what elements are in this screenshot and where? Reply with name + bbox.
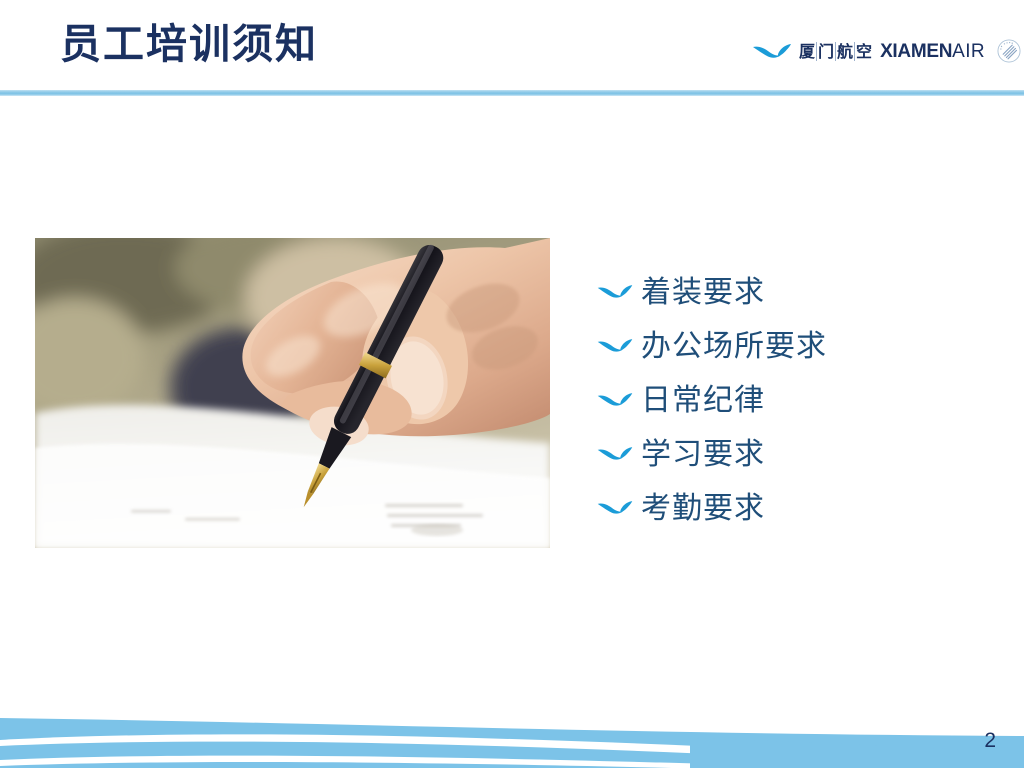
list-item-label: 考勤要求 <box>641 492 765 525</box>
logo-en-light: AIR <box>952 41 985 62</box>
xiamenair-logo: 厦 门 航 空 XIAMENAIR <box>752 36 1022 66</box>
egret-bullet-icon <box>595 498 635 518</box>
logo-chinese-text: 厦 门 航 空 <box>798 42 873 61</box>
egret-bullet-icon <box>595 282 635 302</box>
writing-hand-photo <box>35 238 550 548</box>
logo-cn-char-3: 空 <box>855 42 873 61</box>
egret-swoosh-icon <box>752 40 792 62</box>
list-item-label: 日常纪律 <box>641 384 765 417</box>
header-divider <box>0 90 1024 96</box>
egret-bullet-icon <box>595 444 635 464</box>
logo-en-bold: XIAMEN <box>880 41 952 62</box>
egret-bullet-icon <box>595 336 635 356</box>
list-item-label: 学习要求 <box>641 438 765 471</box>
logo-english-text: XIAMENAIR <box>880 42 985 61</box>
bullet-list: 着装要求 办公场所要求 日常纪律 学习要求 <box>595 265 995 535</box>
presentation-slide: 员工培训须知 厦 门 航 空 XIAMENAIR <box>0 0 1024 768</box>
list-item[interactable]: 着装要求 <box>595 265 995 319</box>
list-item[interactable]: 办公场所要求 <box>595 319 995 373</box>
logo-cn-char-1: 门 <box>817 42 836 61</box>
circular-seal-icon <box>996 38 1022 64</box>
slide-footer <box>0 700 1024 768</box>
logo-cn-char-2: 航 <box>836 42 855 61</box>
footer-wave-graphic <box>0 700 1024 768</box>
list-item[interactable]: 日常纪律 <box>595 373 995 427</box>
slide-header: 员工培训须知 厦 门 航 空 XIAMENAIR <box>0 0 1024 96</box>
list-item-label: 着装要求 <box>641 276 765 309</box>
list-item[interactable]: 考勤要求 <box>595 481 995 535</box>
list-item-label: 办公场所要求 <box>641 330 827 363</box>
egret-bullet-icon <box>595 390 635 410</box>
list-item[interactable]: 学习要求 <box>595 427 995 481</box>
page-title: 员工培训须知 <box>60 22 318 67</box>
page-number: 2 <box>984 729 996 753</box>
photo-illustration <box>35 238 550 548</box>
logo-cn-char-0: 厦 <box>798 42 817 61</box>
